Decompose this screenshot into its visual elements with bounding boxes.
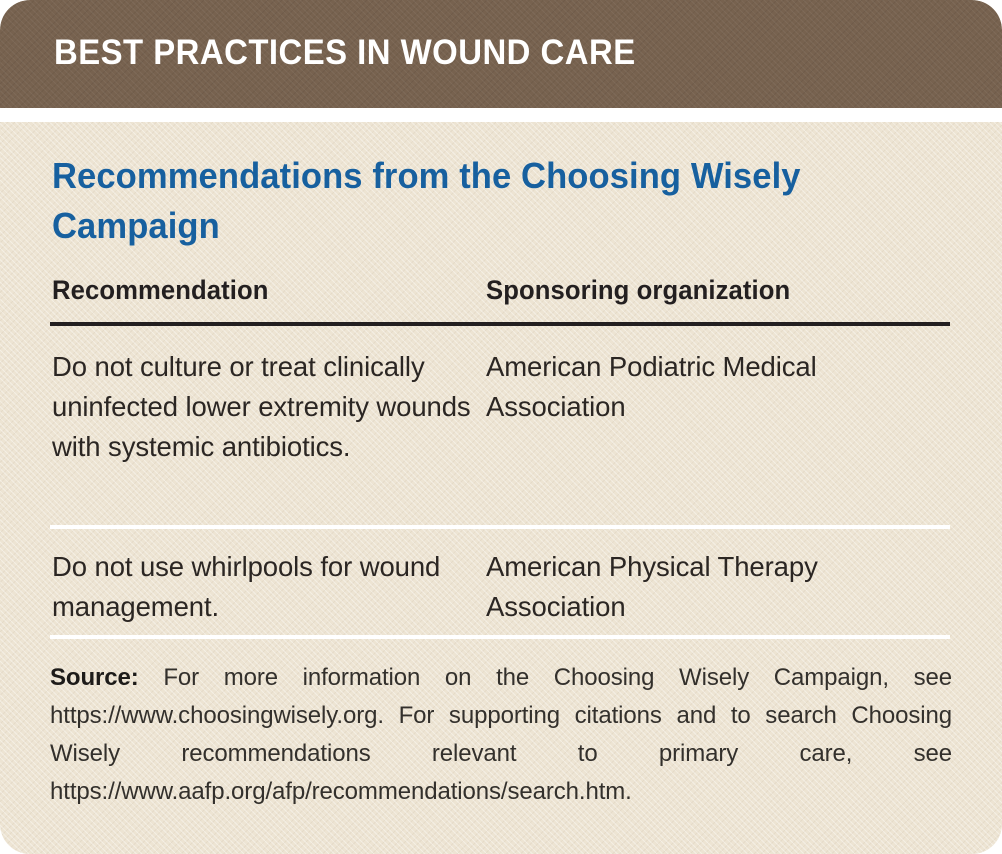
table-row: Do not use whirlpools for wound manageme… (0, 547, 1002, 639)
column-header-recommendation: Recommendation (52, 274, 451, 306)
table-header-rule (50, 322, 950, 326)
cell-organization: American Physical Therapy Association (486, 547, 956, 627)
source-label: Source: (50, 664, 139, 691)
cell-organization: American Podiatric Medical Association (486, 347, 956, 427)
cell-recommendation: Do not culture or treat clinically uninf… (52, 347, 472, 467)
page-title: Recommendations from the Choosing Wisely… (52, 151, 830, 251)
cell-recommendation: Do not use whirlpools for wound manageme… (52, 547, 472, 627)
banner-separator-band (0, 108, 1002, 122)
source-text: For more information on the Choosing Wis… (50, 664, 952, 805)
banner-title: BEST PRACTICES IN WOUND CARE (54, 33, 636, 73)
row-divider (50, 525, 950, 529)
row-divider (50, 635, 950, 639)
column-header-sponsoring-organization: Sponsoring organization (486, 274, 933, 306)
table-row: Do not culture or treat clinically uninf… (0, 347, 1002, 519)
wound-care-table-card: BEST PRACTICES IN WOUND CARE Recommendat… (0, 0, 1002, 854)
card-body: Recommendations from the Choosing Wisely… (0, 122, 1002, 854)
table-header-row: Recommendation Sponsoring organization (0, 274, 1002, 308)
source-footnote: Source: For more information on the Choo… (50, 659, 952, 811)
